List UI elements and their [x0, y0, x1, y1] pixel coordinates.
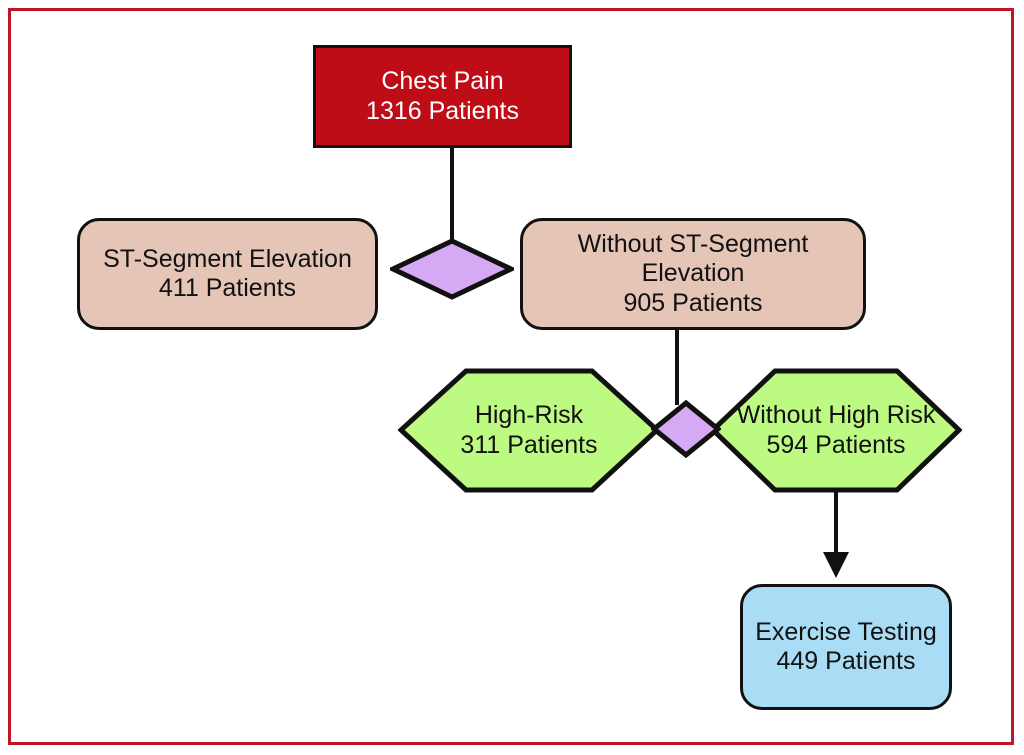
decision-diamond-st-split[interactable]: [390, 238, 514, 300]
connector-withoutst-to-split: [675, 330, 679, 405]
node-st-segment-elevation-label: ST-Segment Elevation 411 Patients: [103, 245, 352, 304]
node-st-segment-elevation[interactable]: ST-Segment Elevation 411 Patients: [77, 218, 378, 330]
node-without-high-risk[interactable]: Without High Risk 594 Patients: [710, 368, 962, 493]
node-without-st-segment-elevation[interactable]: Without ST-Segment Elevation 905 Patient…: [520, 218, 866, 330]
node-exercise-testing[interactable]: Exercise Testing 449 Patients: [740, 584, 952, 710]
arrowhead-icon: [823, 552, 849, 578]
node-chest-pain[interactable]: Chest Pain 1316 Patients: [313, 45, 572, 148]
flowchart-canvas: Chest Pain 1316 Patients ST-Segment Elev…: [0, 0, 1024, 755]
diamond-shape-icon: [390, 238, 514, 300]
node-high-risk-label: High-Risk 311 Patients: [398, 368, 660, 493]
connector-withouthighrisk-to-exercise: [834, 490, 838, 555]
node-high-risk[interactable]: High-Risk 311 Patients: [398, 368, 660, 493]
node-chest-pain-label: Chest Pain 1316 Patients: [366, 67, 519, 126]
node-without-st-segment-elevation-label: Without ST-Segment Elevation 905 Patient…: [523, 230, 863, 319]
diamond-shape-icon: [651, 400, 721, 458]
node-without-high-risk-label: Without High Risk 594 Patients: [710, 368, 962, 493]
node-exercise-testing-label: Exercise Testing 449 Patients: [755, 618, 937, 677]
decision-diamond-risk-split[interactable]: [651, 400, 721, 458]
